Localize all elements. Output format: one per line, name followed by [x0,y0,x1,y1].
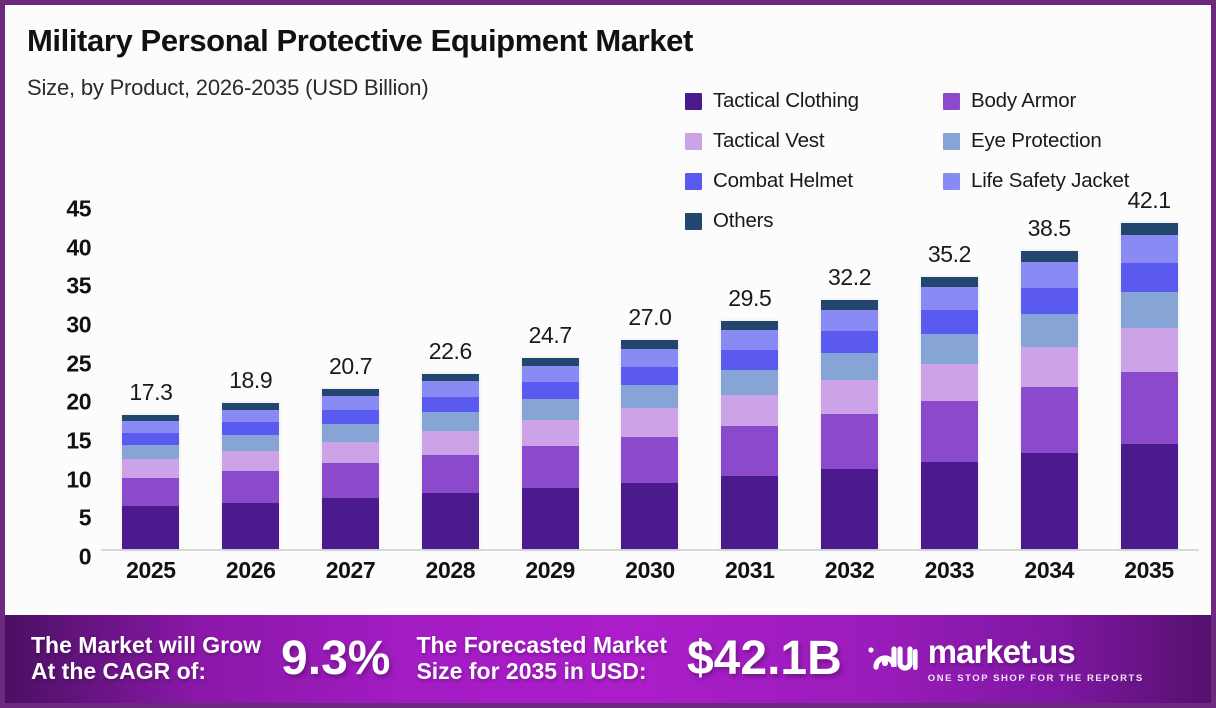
bar-segment-eye-protection [621,385,678,408]
bar-segment-tactical-clothing [222,503,279,549]
x-axis-tick-2027: 2027 [301,557,401,584]
legend-label: Body Armor [971,89,1076,113]
bar-segment-combat-helmet [921,310,978,334]
y-axis-tick: 20 [66,389,91,416]
bar-segment-body-armor [322,463,379,498]
bar-value-label: 42.1 [1127,187,1170,214]
bar-stack [322,389,379,549]
legend-swatch-icon [685,133,702,150]
bar-segment-body-armor [1121,372,1178,444]
bar-segment-tactical-clothing [1021,453,1078,549]
bar-segment-tactical-clothing [122,506,179,549]
bar-segment-life-safety-jacket [222,410,279,422]
y-axis-tick: 25 [66,350,91,377]
bar-stack [1021,251,1078,549]
bar-segment-others [522,358,579,366]
bar-segment-tactical-clothing [921,462,978,549]
bar-segment-combat-helmet [222,422,279,434]
bar-segment-tactical-clothing [322,498,379,549]
bar-value-label: 38.5 [1028,215,1071,242]
bar-segment-others [422,374,479,381]
bar-segment-body-armor [122,478,179,507]
bar-segment-others [821,300,878,310]
bar-column-2027[interactable]: 20.7 [301,201,401,549]
x-axis-tick-2033: 2033 [900,557,1000,584]
bar-stack [1121,223,1178,549]
bar-segment-life-safety-jacket [522,366,579,382]
infographic-root: Military Personal Protective Equipment M… [0,0,1216,708]
bar-column-2033[interactable]: 35.2 [900,201,1000,549]
legend-label: Tactical Vest [713,129,824,153]
bar-column-2028[interactable]: 22.6 [400,201,500,549]
bar-segment-tactical-vest [322,442,379,464]
legend-item-combat-helmet[interactable]: Combat Helmet [685,169,943,193]
bar-segment-others [322,389,379,396]
bar-segment-combat-helmet [422,397,479,412]
x-axis-tick-2030: 2030 [600,557,700,584]
bar-column-2035[interactable]: 42.1 [1099,201,1199,549]
bar-segment-tactical-vest [1021,347,1078,387]
bar-segment-life-safety-jacket [621,349,678,367]
bar-segment-body-armor [721,426,778,476]
bar-segment-eye-protection [921,334,978,364]
bar-column-2031[interactable]: 29.5 [700,201,800,549]
chart-subtitle: Size, by Product, 2026-2035 (USD Billion… [27,75,693,101]
x-axis-tick-2029: 2029 [500,557,600,584]
bar-segment-eye-protection [122,445,179,460]
legend-item-tactical-vest[interactable]: Tactical Vest [685,129,943,153]
bar-segment-tactical-clothing [821,469,878,549]
bar-segment-eye-protection [721,370,778,396]
y-axis-tick: 0 [79,544,91,571]
bar-value-label: 17.3 [129,379,172,406]
bar-segment-combat-helmet [721,350,778,370]
legend-label: Tactical Clothing [713,89,859,113]
bottom-banner: The Market will Grow At the CAGR of: 9.3… [5,615,1211,703]
x-axis-tick-2032: 2032 [800,557,900,584]
market-us-logo-icon [866,639,918,679]
forecast-size-label-line2: Size for 2035 in USD: [416,659,667,685]
bar-segment-others [721,321,778,330]
x-axis-tick-2034: 2034 [999,557,1099,584]
legend-swatch-icon [685,93,702,110]
bar-stack [522,358,579,549]
bar-segment-eye-protection [522,399,579,420]
page-title: Military Personal Protective Equipment M… [27,23,693,59]
bar-segment-others [621,340,678,349]
x-axis-tick-2035: 2035 [1099,557,1199,584]
bar-segment-body-armor [821,414,878,469]
bar-segment-tactical-vest [621,408,678,437]
legend-item-tactical-clothing[interactable]: Tactical Clothing [685,89,943,113]
legend-swatch-icon [685,173,702,190]
cagr-label: The Market will Grow At the CAGR of: [31,633,261,685]
x-axis: 2025202620272028202920302031203220332034… [101,557,1199,584]
y-axis-tick: 15 [66,428,91,455]
brand-tagline: ONE STOP SHOP FOR THE REPORTS [928,673,1144,684]
x-axis-tick-2028: 2028 [400,557,500,584]
forecast-size-label-line1: The Forecasted Market [416,633,667,659]
legend-label: Life Safety Jacket [971,169,1129,193]
bar-segment-body-armor [1021,387,1078,453]
bar-column-2034[interactable]: 38.5 [999,201,1099,549]
bar-segment-eye-protection [1121,292,1178,328]
bar-segment-combat-helmet [122,433,179,445]
y-axis-tick: 45 [66,196,91,223]
bar-segment-combat-helmet [1121,263,1178,292]
bar-stack [122,415,179,549]
bar-segment-tactical-clothing [522,488,579,549]
bar-segment-life-safety-jacket [721,330,778,349]
bar-segment-life-safety-jacket [422,381,479,396]
chart-header: Military Personal Protective Equipment M… [27,23,693,101]
bar-stack [422,374,479,549]
bar-segment-tactical-vest [921,364,978,401]
legend-swatch-icon [943,93,960,110]
y-axis-tick: 40 [66,234,91,261]
bar-segment-body-armor [422,455,479,493]
bar-segment-life-safety-jacket [1121,235,1178,263]
x-axis-tick-2025: 2025 [101,557,201,584]
bar-stack [821,300,878,549]
bar-segment-tactical-vest [821,380,878,414]
bar-segment-eye-protection [422,412,479,431]
bar-segment-life-safety-jacket [821,310,878,331]
y-axis-tick: 35 [66,273,91,300]
bar-stack [721,321,778,549]
bar-segment-others [1021,251,1078,262]
y-axis-tick: 30 [66,312,91,339]
bar-segment-tactical-clothing [422,493,479,549]
bar-column-2029[interactable]: 24.7 [500,201,600,549]
y-axis: 454035302520151050 [41,209,91,557]
bar-segment-body-armor [222,471,279,503]
bar-segment-tactical-clothing [621,483,678,550]
brand-text-block: market.us ONE STOP SHOP FOR THE REPORTS [928,635,1144,684]
bar-segment-others [222,403,279,410]
cagr-label-line2: At the CAGR of: [31,659,261,685]
bar-value-label: 22.6 [429,338,472,365]
brand-name: market.us [928,635,1144,668]
bar-segment-tactical-vest [122,459,179,478]
bar-segment-combat-helmet [821,331,878,353]
bar-segment-life-safety-jacket [921,287,978,310]
bar-value-label: 29.5 [728,285,771,312]
legend-item-eye-protection[interactable]: Eye Protection [943,129,1197,153]
bar-segment-combat-helmet [621,367,678,386]
y-axis-tick: 5 [79,505,91,532]
bar-segment-tactical-vest [1121,328,1178,372]
bar-segment-body-armor [522,446,579,488]
bar-segment-eye-protection [1021,314,1078,347]
bar-segment-tactical-vest [422,431,479,455]
bar-segment-tactical-vest [222,451,279,471]
bar-segment-others [921,277,978,287]
bar-column-2026[interactable]: 18.9 [201,201,301,549]
bar-segment-body-armor [921,401,978,461]
bar-segment-tactical-vest [721,395,778,426]
x-axis-baseline [101,549,1199,551]
bar-segment-combat-helmet [1021,288,1078,314]
bar-column-2032[interactable]: 32.2 [800,201,900,549]
bar-segment-tactical-clothing [1121,444,1178,549]
x-axis-tick-2026: 2026 [201,557,301,584]
bar-segment-life-safety-jacket [322,396,379,410]
legend-label: Eye Protection [971,129,1102,153]
bar-value-label: 24.7 [529,322,572,349]
bar-segment-body-armor [621,437,678,483]
bar-value-label: 20.7 [329,353,372,380]
brand-logo[interactable]: market.us ONE STOP SHOP FOR THE REPORTS [866,635,1144,684]
bar-segment-tactical-clothing [721,476,778,549]
bar-value-label: 27.0 [628,304,671,331]
cagr-value: 9.3% [281,635,390,683]
bar-segment-life-safety-jacket [1021,262,1078,288]
bar-stack [222,403,279,549]
bar-segment-life-safety-jacket [122,421,179,433]
bar-segment-eye-protection [322,424,379,442]
bar-stack [921,277,978,549]
forecast-size-label: The Forecasted Market Size for 2035 in U… [416,633,667,685]
bar-column-2025[interactable]: 17.3 [101,201,201,549]
chart-plot-area: 454035302520151050 17.318.920.722.624.72… [5,201,1211,605]
legend-item-body-armor[interactable]: Body Armor [943,89,1197,113]
bar-stack [621,340,678,549]
bar-segment-combat-helmet [522,382,579,399]
legend-swatch-icon [943,173,960,190]
bar-value-label: 18.9 [229,367,272,394]
bar-segment-combat-helmet [322,410,379,424]
forecast-size-value: $42.1B [687,635,842,683]
bar-segment-others [1121,223,1178,235]
legend-label: Combat Helmet [713,169,853,193]
bar-segment-eye-protection [222,435,279,451]
bar-segment-tactical-vest [522,420,579,446]
bar-value-label: 32.2 [828,264,871,291]
bar-segment-eye-protection [821,353,878,381]
bar-series-group: 17.318.920.722.624.727.029.532.235.238.5… [101,201,1199,549]
bar-value-label: 35.2 [928,241,971,268]
x-axis-tick-2031: 2031 [700,557,800,584]
cagr-label-line1: The Market will Grow [31,633,261,659]
bar-column-2030[interactable]: 27.0 [600,201,700,549]
legend-swatch-icon [943,133,960,150]
y-axis-tick: 10 [66,466,91,493]
